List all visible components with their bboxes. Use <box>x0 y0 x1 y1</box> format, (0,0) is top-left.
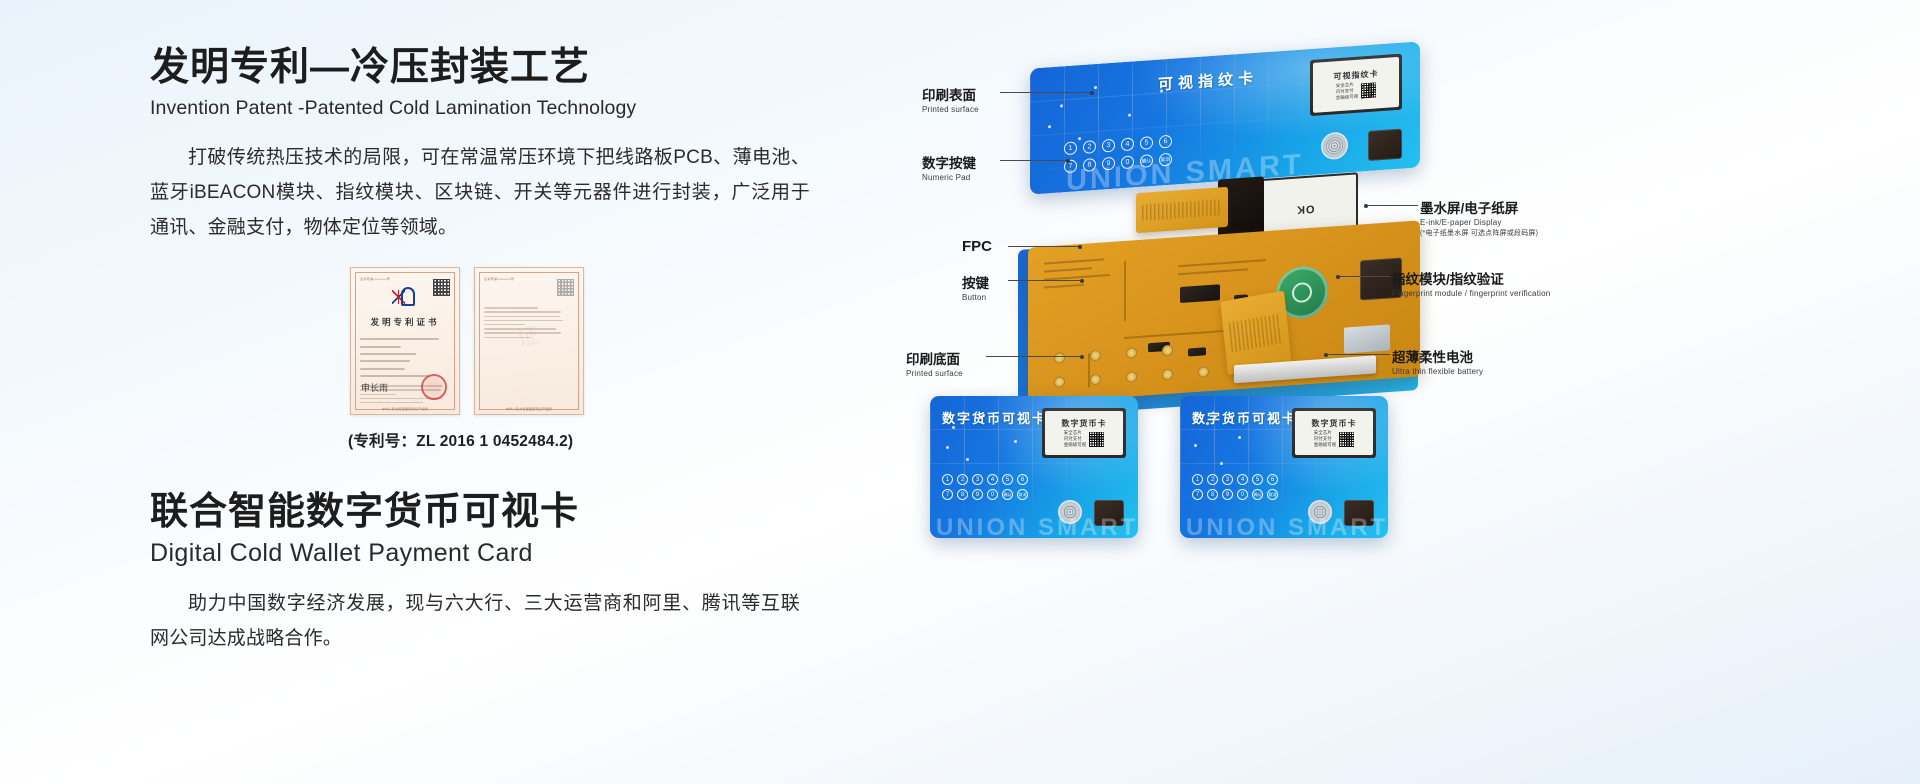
wallet-body-text: 助力中国数字经济发展，现与六大行、三大运营商和阿里、腾讯等互联网公司达成战略合作… <box>150 586 800 656</box>
certificate-footer: 中华人民共和国国家知识产权局 <box>475 407 583 411</box>
card-eink-screen: 数字货币卡 安全芯片 闪付支付 金融级可视 <box>1042 408 1126 458</box>
metal-contact-pad <box>1344 324 1390 353</box>
eink-screen-lines: 安全芯片 闪付支付 金融级可视 <box>1336 83 1359 101</box>
keypad-key[interactable]: 0 <box>1237 489 1248 500</box>
card-eink-screen: 可视指纹卡 安全芯片 闪付支付 金融级可视 <box>1310 54 1402 116</box>
keypad-key[interactable]: 7 <box>942 489 953 500</box>
label-button: 按键 Button <box>962 272 989 302</box>
brand-watermark: UNION SMART <box>1186 514 1388 538</box>
keypad-key[interactable]: 3 <box>1222 474 1233 485</box>
eink-qr-icon <box>1339 432 1354 447</box>
leader-line <box>1008 280 1082 281</box>
label-text-en: Fingerprint module / fingerprint verific… <box>1392 289 1550 298</box>
label-text-en: Printed surface <box>906 369 963 378</box>
fpc-ribbon-top <box>1136 187 1228 233</box>
certificate-title: 发明专利证书 <box>360 316 450 328</box>
label-eink-display: 墨水屏/电子纸屏 E-ink/E-paper Display (*电子纸墨水屏 … <box>1420 197 1538 238</box>
label-text-cn: 数字按键 <box>922 152 976 172</box>
keypad-key[interactable]: 2 <box>957 474 968 485</box>
label-text-cn: FPC <box>962 238 992 255</box>
certificate-signature: 申长雨 <box>361 381 388 394</box>
label-text-en: Button <box>962 293 989 302</box>
label-fingerprint-module: 指纹模块/指纹验证 Fingerprint module / fingerpri… <box>1392 268 1550 298</box>
label-text-note: (*电子纸墨水屏 可选点阵屏或段码屏) <box>1420 228 1538 238</box>
numeric-keypad[interactable]: 1 2 3 4 5 6 7 8 9 0 确认 取消 <box>1192 474 1278 500</box>
keypad-key[interactable]: 取消 <box>1017 489 1028 500</box>
wallet-heading-cn: 联合智能数字货币可视卡 <box>150 491 840 535</box>
label-text-cn: 印刷表面 <box>922 84 979 104</box>
keypad-key[interactable]: 6 <box>1017 474 1028 485</box>
keypad-key[interactable]: 9 <box>1222 489 1233 500</box>
leader-line <box>986 356 1082 357</box>
eink-qr-icon <box>1089 432 1104 447</box>
keypad-key[interactable]: 确认 <box>1002 489 1013 500</box>
digital-wallet-card: 数字货币可视卡 数字货币卡 安全芯片 闪付支付 金融级可视 <box>1180 396 1388 538</box>
keypad-key[interactable]: 8 <box>957 489 968 500</box>
epd-label: OK <box>1296 202 1315 215</box>
keypad-key[interactable]: 3 <box>1102 139 1115 153</box>
keypad-key[interactable]: 6 <box>1267 474 1278 485</box>
label-text-en: Numeric Pad <box>922 173 976 182</box>
keypad-key[interactable]: 1 <box>1192 474 1203 485</box>
certificate-field-lines <box>360 338 450 377</box>
label-text-en: E-ink/E-paper Display <box>1420 218 1538 227</box>
marketing-page: 发明专利—冷压封装工艺 Invention Patent -Patented C… <box>0 0 1920 784</box>
certificate-card: 证书号第xxxxxxx号 证 中华人民共和国国家知识产权局 <box>474 267 584 415</box>
keypad-key[interactable]: 8 <box>1207 489 1218 500</box>
label-text-cn: 指纹模块/指纹验证 <box>1392 268 1550 288</box>
keypad-key[interactable]: 0 <box>987 489 998 500</box>
label-numeric-pad: 数字按键 Numeric Pad <box>922 152 976 182</box>
leader-line <box>1366 205 1418 206</box>
patent-office-crest-icon <box>392 287 418 307</box>
exploded-card-diagram: 可视指纹卡 可视指纹卡 安全芯片 闪付支付 金融级可视 1 <box>900 40 1900 750</box>
keypad-key[interactable]: 5 <box>1002 474 1013 485</box>
leader-line <box>1000 92 1092 93</box>
brand-watermark: UNION SMART <box>936 514 1138 538</box>
keypad-key[interactable]: 取消 <box>1267 489 1278 500</box>
fingerprint-sensor-square <box>1368 129 1402 161</box>
label-printed-surface-bottom: 印刷底面 Printed surface <box>906 348 963 378</box>
eink-screen-title: 数字货币卡 <box>1312 418 1357 429</box>
keypad-key[interactable]: 9 <box>972 489 983 500</box>
patent-number: (专利号：ZL 2016 1 0452484.2) <box>348 429 840 451</box>
eink-qr-icon <box>1361 82 1376 98</box>
card-brand-label: 数字货币可视卡 <box>942 408 1047 427</box>
label-text-en: Printed surface <box>922 105 979 114</box>
keypad-key[interactable]: 4 <box>1237 474 1248 485</box>
keypad-key[interactable]: 4 <box>987 474 998 485</box>
label-flexible-battery: 超薄柔性电池 Ultra thin flexible battery <box>1392 346 1483 376</box>
eink-screen-title: 可视指纹卡 <box>1334 69 1379 83</box>
eink-screen-lines: 安全芯片 闪付支付 金融级可视 <box>1064 431 1087 448</box>
keypad-key[interactable]: 3 <box>972 474 983 485</box>
patent-heading-cn: 发明专利—冷压封装工艺 <box>150 46 840 91</box>
keypad-key[interactable]: 5 <box>1140 136 1153 150</box>
keypad-key[interactable]: 4 <box>1121 137 1134 151</box>
eink-screen-lines: 安全芯片 闪付支付 金融级可视 <box>1314 431 1337 448</box>
label-text-cn: 按键 <box>962 272 989 292</box>
wallet-heading-en: Digital Cold Wallet Payment Card <box>150 539 840 568</box>
leader-line <box>1326 354 1390 355</box>
keypad-key[interactable]: 6 <box>1159 135 1172 149</box>
label-text-cn: 超薄柔性电池 <box>1392 346 1483 366</box>
eink-line: 金融级可视 <box>1064 443 1087 448</box>
certificate-gallery: 证书号第xxxxxxx号 发明专利证书 <box>350 267 840 415</box>
qr-code-icon <box>433 279 450 296</box>
pcb-board <box>1028 220 1420 403</box>
keypad-key[interactable]: 1 <box>942 474 953 485</box>
label-text-cn: 墨水屏/电子纸屏 <box>1420 197 1538 217</box>
card-eink-screen: 数字货币卡 安全芯片 闪付支付 金融级可视 <box>1292 408 1376 458</box>
leader-line <box>1000 160 1068 161</box>
keypad-key[interactable]: 5 <box>1252 474 1263 485</box>
card-brand-label: 数字货币可视卡 <box>1192 408 1297 427</box>
patent-body-text: 打破传统热压技术的局限，可在常温常压环境下把线路板PCB、薄电池、蓝牙iBEAC… <box>150 140 810 245</box>
keypad-key[interactable]: 2 <box>1083 140 1096 154</box>
product-card-gallery: 数字货币可视卡 数字货币卡 安全芯片 闪付支付 金融级可视 <box>930 396 1388 538</box>
keypad-key[interactable]: 2 <box>1207 474 1218 485</box>
patent-heading-en: Invention Patent -Patented Cold Laminati… <box>150 97 840 120</box>
numeric-keypad[interactable]: 1 2 3 4 5 6 7 8 9 0 确认 取消 <box>942 474 1028 500</box>
left-content-column: 发明专利—冷压封装工艺 Invention Patent -Patented C… <box>150 46 840 656</box>
keypad-key[interactable]: 确认 <box>1252 489 1263 500</box>
label-text-en: Ultra thin flexible battery <box>1392 367 1483 376</box>
label-printed-surface-top: 印刷表面 Printed surface <box>922 84 979 114</box>
keypad-key[interactable]: 1 <box>1064 141 1077 155</box>
certificate-footer: 中华人民共和国国家知识产权局 <box>351 407 459 411</box>
eink-screen-title: 数字货币卡 <box>1062 418 1107 429</box>
qr-code-icon <box>557 279 574 296</box>
leader-line <box>1008 246 1080 247</box>
wallet-section: 联合智能数字货币可视卡 Digital Cold Wallet Payment … <box>150 491 840 656</box>
certificate-card: 证书号第xxxxxxx号 发明专利证书 <box>350 267 460 415</box>
label-fpc: FPC <box>962 238 992 255</box>
eink-line: 金融级可视 <box>1314 443 1337 448</box>
label-text-cn: 印刷底面 <box>906 348 963 368</box>
leader-line <box>1338 276 1390 277</box>
fingerprint-card-front: 可视指纹卡 可视指纹卡 安全芯片 闪付支付 金融级可视 1 <box>1030 41 1420 194</box>
eink-line: 金融级可视 <box>1336 95 1359 101</box>
digital-wallet-card: 数字货币可视卡 数字货币卡 安全芯片 闪付支付 金融级可视 <box>930 396 1138 538</box>
keypad-key[interactable]: 7 <box>1192 489 1203 500</box>
